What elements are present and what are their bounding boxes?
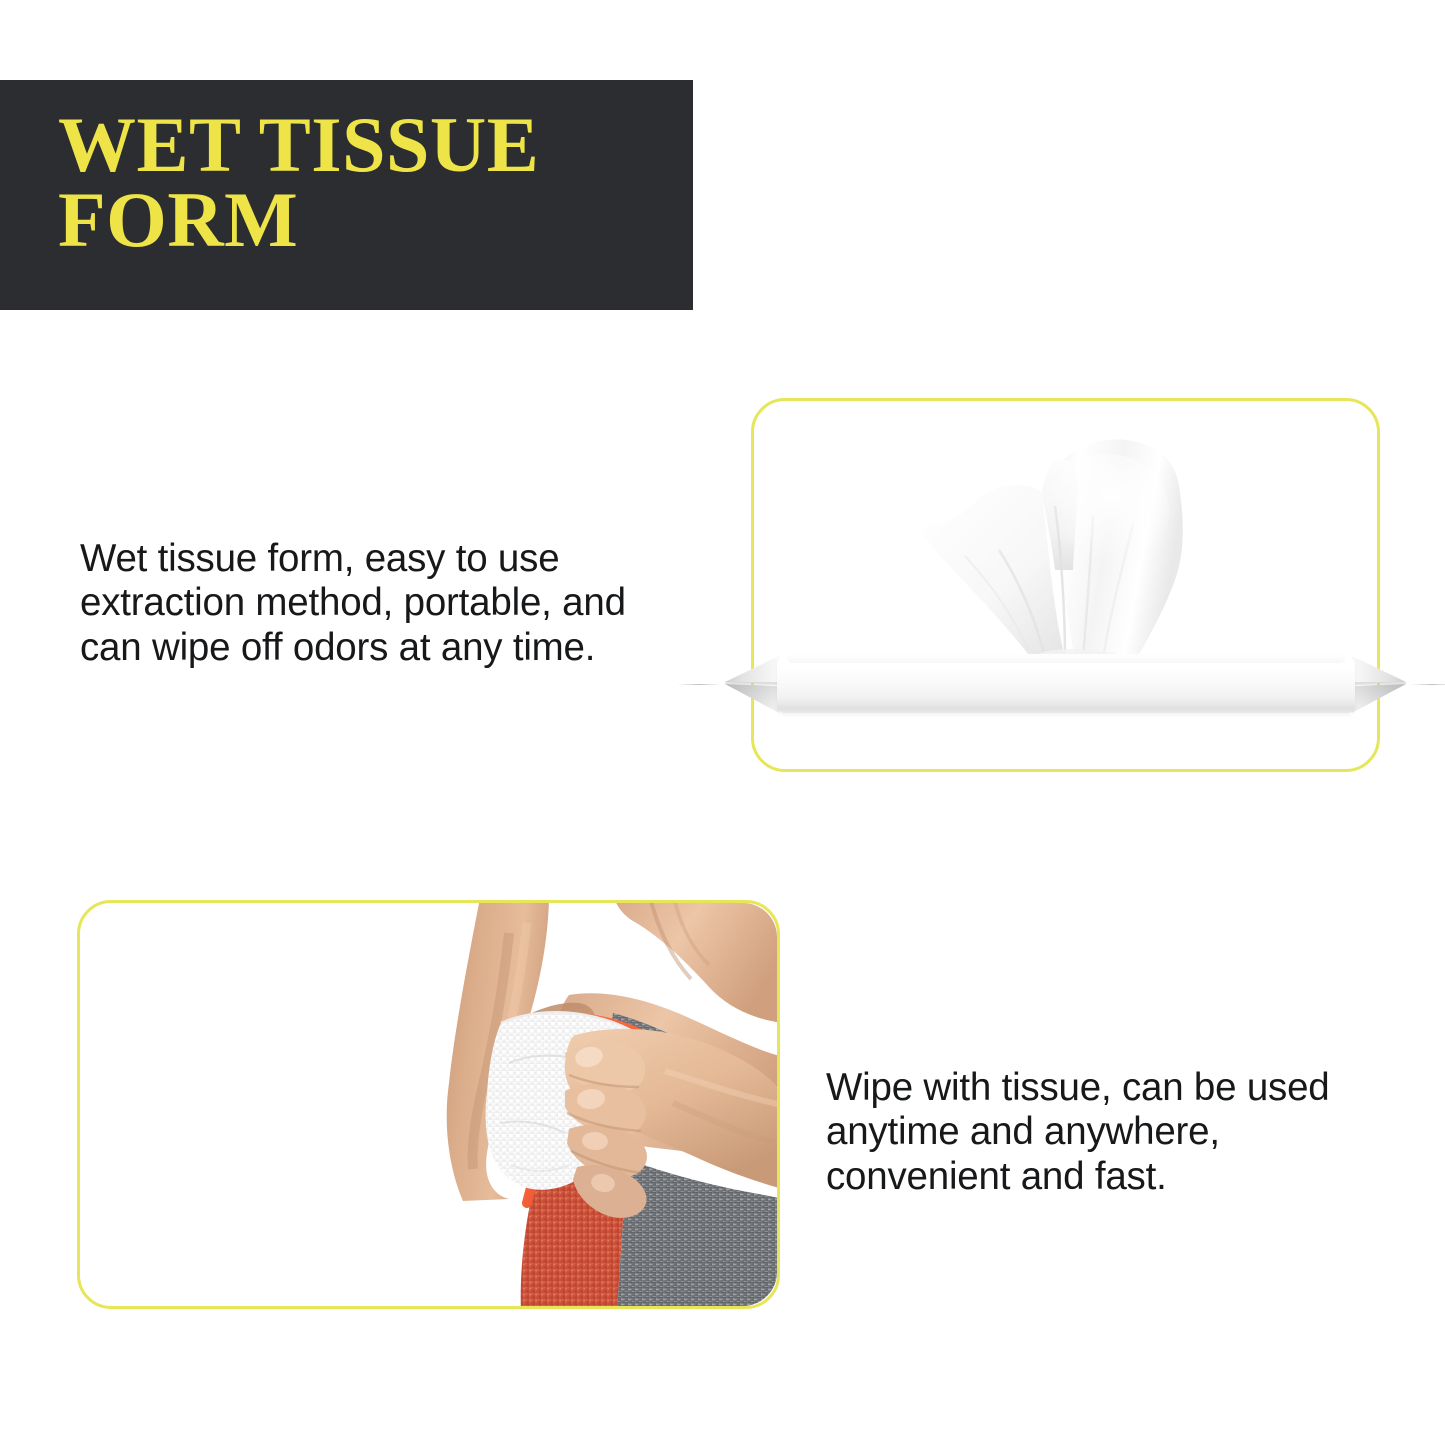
page-title: WET TISSUE FORM [58,108,693,258]
infographic-page: WET TISSUE FORM Wet tissue form, easy to… [0,0,1445,1445]
wet-wipes-packet-illustration [751,398,1380,772]
packet-top-lip [787,654,1345,663]
header-banner: WET TISSUE FORM [0,80,693,310]
feature-2-image-card [77,900,780,1309]
feature-2-description: Wipe with tissue, can be used anytime an… [826,1066,1406,1200]
feature-1-image [751,398,1380,772]
underarm-wipe-photo [80,903,777,1306]
packet-sealed-end-right [1352,656,1416,713]
feature-1-description: Wet tissue form, easy to use extraction … [80,537,680,671]
packet-bottom-shadow [777,698,1355,713]
person-wiping-underarm-illustration [313,903,777,1306]
packet-sealed-end-left [715,656,779,713]
feature-1-image-card [751,398,1380,772]
feature-2-image [80,903,777,1306]
tissue-sheet-icon [879,420,1259,670]
